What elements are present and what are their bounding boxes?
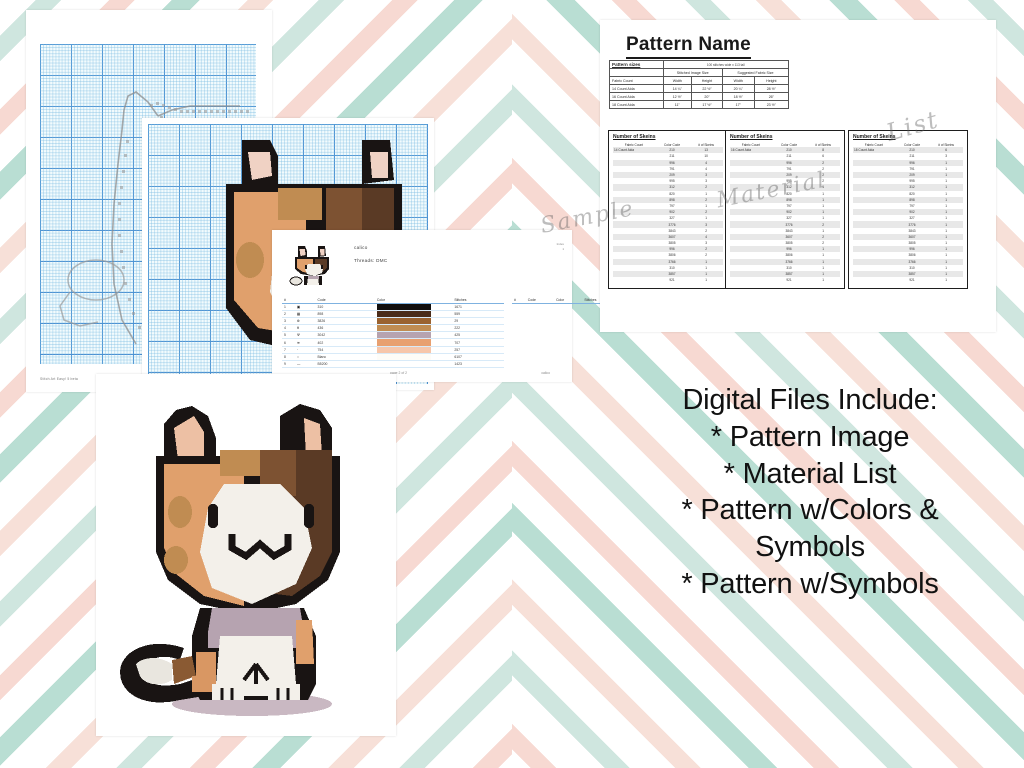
pattern-sizes-cell-fabric_w: 17" — [722, 101, 754, 109]
key-cell-num: 5 — [282, 332, 295, 339]
skeins-cell-code: 921 — [895, 277, 929, 283]
material-list-page[interactable]: Pattern Name Pattern sizes 100 stitches … — [600, 20, 996, 332]
skeins-cell-count: 1 — [929, 277, 963, 283]
key-cell-code: 310 — [316, 303, 375, 310]
key-cell-code: Blanc — [316, 353, 375, 360]
col-fabric-count: Fabric Count — [610, 77, 664, 85]
skeins-header-row-3: Fabric Count Color Code # of Skeins — [853, 142, 963, 147]
key-cell-code: 3042 — [316, 332, 375, 339]
col-stitched-height: Height — [692, 77, 723, 85]
group-header-fabric: Suggested Fabric Size — [722, 69, 788, 77]
skeins-row: 9211 — [730, 277, 840, 283]
promo-line-1: * Pattern Image — [600, 419, 1020, 456]
pattern-sizes-cell-fabric: 16 Count Aida — [610, 93, 664, 101]
pattern-sizes-cell-fabric_h: 28 ½" — [754, 85, 788, 93]
thread-key-row: 8∷Blanc6107 — [282, 353, 504, 360]
key-cell-code: B5200 — [316, 361, 375, 368]
skeins-cell-code: 921 — [655, 277, 689, 283]
key-page-index: Index1 — [557, 242, 564, 251]
key-cell-stitches: 257 — [452, 346, 504, 353]
promo-line-5: * Pattern w/Symbols — [600, 566, 1020, 603]
key-cell-color-swatch — [375, 303, 452, 310]
key-cell-color-swatch — [375, 346, 452, 353]
skeins-cell-count: 1 — [806, 277, 840, 283]
key-cell-num: 9 — [282, 361, 295, 368]
key-cell-color-swatch — [375, 317, 452, 324]
pattern-sizes-cell-fabric_w: 18 ½" — [722, 93, 754, 101]
key-cell-num: 3 — [282, 317, 295, 324]
key-cell-color-swatch — [375, 339, 452, 346]
thread-key-body: 1▣31016712▦8985593⊛3826294¥4362225Ψ30424… — [282, 303, 504, 368]
key-cell-color-swatch — [375, 332, 452, 339]
skeins-body-1: 14 Count Aida210132111099647914209399533… — [613, 147, 723, 283]
page-title: Pattern Name — [626, 34, 751, 59]
pattern-sizes-note: 100 stitches wide x 113 tall — [663, 61, 788, 69]
key-cell-stitches: 425 — [452, 332, 504, 339]
key2-col-code: Code — [526, 298, 554, 303]
skeins-card-16ct: Number of Skeins Fabric Count Color Code… — [725, 130, 845, 289]
group-header-stitched: Stitched Image Size — [663, 69, 722, 77]
key-pattern-title: calico — [354, 245, 368, 250]
key-cell-code: 898 — [316, 310, 375, 317]
thread-key-row: 3⊛382629 — [282, 317, 504, 324]
key-cell-code: 754 — [316, 346, 375, 353]
pattern-sizes-cell-stitched_w: 14 ¼" — [663, 85, 692, 93]
key-cell-color-swatch — [375, 353, 452, 360]
key-cell-symbol: ▣ — [295, 303, 316, 310]
symbol-sheet-footer: Stitch Art Easy! 5 beta — [40, 377, 78, 381]
thread-key-row: 5Ψ3042425 — [282, 332, 504, 339]
key-cell-symbol: ≋ — [295, 339, 316, 346]
key-cell-num: 6 — [282, 339, 295, 346]
pattern-sizes-column-row: Fabric Count Width Height Width Height — [610, 77, 789, 85]
key-cell-code: 402 — [316, 339, 375, 346]
calico-cat-preview-svg — [112, 384, 380, 724]
skeins-heading-3: Number of Skeins — [853, 134, 963, 140]
col-fabric-width: Width — [722, 77, 754, 85]
skeins-cell-fabric — [730, 277, 772, 283]
pattern-sizes-cell-stitched_h: 20" — [692, 93, 723, 101]
skeins-table-2: Fabric Count Color Code # of Skeins 16 C… — [730, 142, 840, 283]
key-cell-color-swatch — [375, 361, 452, 368]
pattern-thumbnail — [288, 242, 338, 288]
skeins-cell-fabric — [853, 277, 895, 283]
thread-key-row: 6≋402707 — [282, 339, 504, 346]
thread-key-row: 1▣3101671 — [282, 303, 504, 310]
skeins-header-row-2: Fabric Count Color Code # of Skeins — [730, 142, 840, 147]
key-cell-stitches: 559 — [452, 310, 504, 317]
pattern-sizes-body: 14 Count Aida14 ¼"22 ½"20 ¼"28 ½"16 Coun… — [610, 85, 789, 109]
color-swatch — [377, 325, 431, 331]
key-cell-stitches: 222 — [452, 325, 504, 332]
skeins-card-14ct: Number of Skeins Fabric Count Color Code… — [608, 130, 728, 289]
listing-canvas: Stitch Art Easy! 5 beta — [0, 0, 1024, 768]
skeins-row: 9211 — [853, 277, 963, 283]
key-cell-symbol: ▦ — [295, 310, 316, 317]
skeins-header-row-1: Fabric Count Color Code # of Skeins — [613, 142, 723, 147]
key-cell-num: 7 — [282, 346, 295, 353]
thread-key-row: 7·754257 — [282, 346, 504, 353]
color-swatch — [377, 347, 431, 353]
color-swatch — [377, 332, 431, 338]
promo-text-block: Digital Files Include: * Pattern Image *… — [600, 382, 1020, 603]
key-cell-stitches: 29 — [452, 317, 504, 324]
skeins-table-1: Fabric Count Color Code # of Skeins 14 C… — [613, 142, 723, 283]
skeins-heading-1: Number of Skeins — [613, 134, 723, 140]
key-cell-symbol: · — [295, 346, 316, 353]
key-cell-stitches: 1423 — [452, 361, 504, 368]
key-cell-color-swatch — [375, 325, 452, 332]
key2-col-color: Color — [554, 298, 582, 303]
key-cell-color-swatch — [375, 310, 452, 317]
color-swatch — [377, 361, 431, 367]
key-cell-num: 4 — [282, 325, 295, 332]
promo-line-4: Symbols — [600, 529, 1020, 566]
thread-key-table: # Code Color Stitches 1▣31016712▦8985593… — [282, 298, 504, 368]
pattern-sizes-cell-fabric: 14 Count Aida — [610, 85, 664, 93]
promo-line-3: * Pattern w/Colors & — [600, 492, 1020, 529]
key-footer-name: calico — [541, 371, 550, 375]
skeins-table-3: Fabric Count Color Code # of Skeins 18 C… — [853, 142, 963, 283]
skeins-body-2: 16 Count Aida210821169962791220929952312… — [730, 147, 840, 283]
key-cell-symbol: ⊛ — [295, 317, 316, 324]
col-stitched-width: Width — [663, 77, 692, 85]
pattern-sizes-cell-fabric_h: 26" — [754, 93, 788, 101]
key-cell-num: 1 — [282, 303, 295, 310]
pattern-sizes-row: 14 Count Aida14 ¼"22 ½"20 ¼"28 ½" — [610, 85, 789, 93]
key-cell-symbol: ¥ — [295, 325, 316, 332]
pattern-sizes-cell-stitched_h: 22 ½" — [692, 85, 723, 93]
calico-cat-thumbnail-svg — [288, 242, 338, 288]
skeins-row: 9211 — [613, 277, 723, 283]
skeins-cell-fabric — [613, 277, 655, 283]
key-cell-code: 3826 — [316, 317, 375, 324]
skeins-body-3: 18 Count Aida210621139961791120919951312… — [853, 147, 963, 283]
pattern-sizes-group-row: Stitched Image Size Suggested Fabric Siz… — [610, 69, 789, 77]
pattern-sizes-row: 18 Count Aida11"17 ½"17"23 ½" — [610, 101, 789, 109]
pattern-sizes-cell-stitched_h: 17 ½" — [692, 101, 723, 109]
thread-key-row: 4¥436222 — [282, 325, 504, 332]
key-threads-label: Threads: DMC — [354, 258, 387, 263]
key-cell-stitches: 707 — [452, 339, 504, 346]
key-cell-symbol: Ψ — [295, 332, 316, 339]
thread-key-row: 2▦898559 — [282, 310, 504, 317]
color-swatch — [377, 354, 431, 360]
color-swatch — [377, 311, 431, 317]
pattern-sizes-table: Pattern sizes 100 stitches wide x 113 ta… — [609, 60, 789, 109]
color-key-page[interactable]: calico Threads: DMC Index1 # Code Color … — [272, 230, 572, 382]
thread-key-row: 9—B52001423 — [282, 361, 504, 368]
pattern-sizes-cell-fabric_w: 20 ¼" — [722, 85, 754, 93]
skeins-cell-code: 921 — [772, 277, 806, 283]
key-cell-num: 8 — [282, 353, 295, 360]
color-swatch — [377, 339, 431, 345]
pattern-sizes-title-row: Pattern sizes 100 stitches wide x 113 ta… — [610, 61, 789, 69]
pattern-sizes-cell-fabric_h: 23 ½" — [754, 101, 788, 109]
color-swatch — [377, 318, 431, 324]
key-cell-code: 436 — [316, 325, 375, 332]
promo-line-0: Digital Files Include: — [600, 382, 1020, 419]
key-table-left: # Code Color Stitches 1▣31016712▦8985593… — [282, 298, 504, 368]
key-cell-symbol: — — [295, 361, 316, 368]
skeins-heading-2: Number of Skeins — [730, 134, 840, 140]
skeins-card-18ct: Number of Skeins Fabric Count Color Code… — [848, 130, 968, 289]
key-cell-stitches: 6107 — [452, 353, 504, 360]
key2-col-num: # — [512, 298, 526, 303]
key-cell-symbol: ∷ — [295, 353, 316, 360]
pattern-sizes-cell-stitched_w: 12 ½" — [663, 93, 692, 101]
key-cell-stitches: 1671 — [452, 303, 504, 310]
pattern-sizes-row: 16 Count Aida12 ½"20"18 ½"26" — [610, 93, 789, 101]
color-swatch — [377, 304, 431, 310]
col-fabric-height: Height — [754, 77, 788, 85]
pattern-sizes-cell-fabric: 18 Count Aida — [610, 101, 664, 109]
key-cell-num: 2 — [282, 310, 295, 317]
promo-line-2: * Material List — [600, 456, 1020, 493]
skeins-cell-count: 1 — [689, 277, 723, 283]
finished-preview-page[interactable] — [96, 374, 396, 736]
pattern-sizes-heading: Pattern sizes — [610, 61, 664, 69]
pattern-sizes-cell-stitched_w: 11" — [663, 101, 692, 109]
pattern-sizes-blank-cell — [610, 69, 664, 77]
